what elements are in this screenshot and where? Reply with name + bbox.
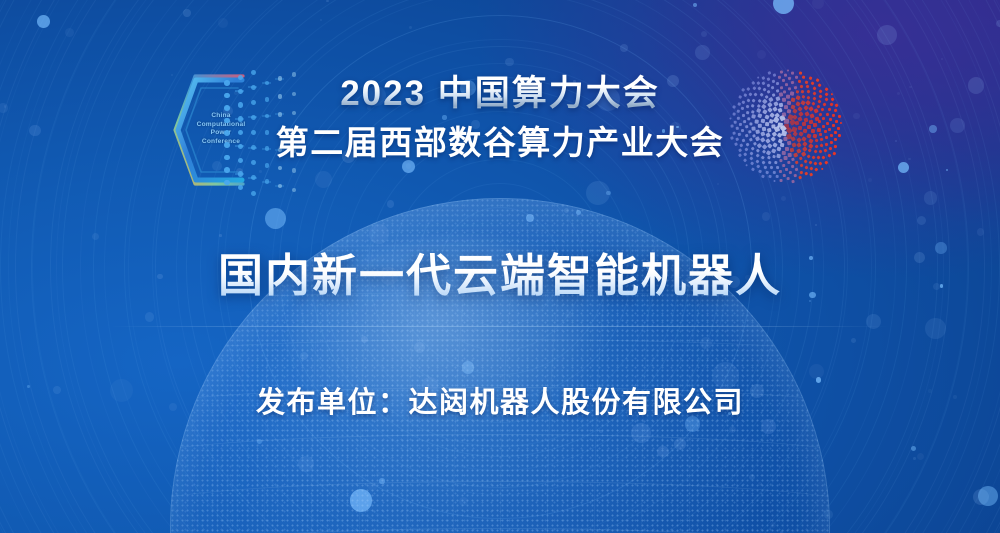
conference-year-title: 2023 中国算力大会 [340,72,660,116]
horizontal-divider [110,326,890,327]
conference-subtitle: 第二届西部数谷算力产业大会 [0,122,1000,164]
page-title: 国内新一代云端智能机器人 [0,246,1000,306]
publisher-line: 发布单位：达闼机器人股份有限公司 [0,383,1000,423]
conference-title-block: 2023 中国算力大会 第二届西部数谷算力产业大会 [0,72,1000,164]
conference-poster: China Computational Power Conference 202… [0,0,1000,533]
